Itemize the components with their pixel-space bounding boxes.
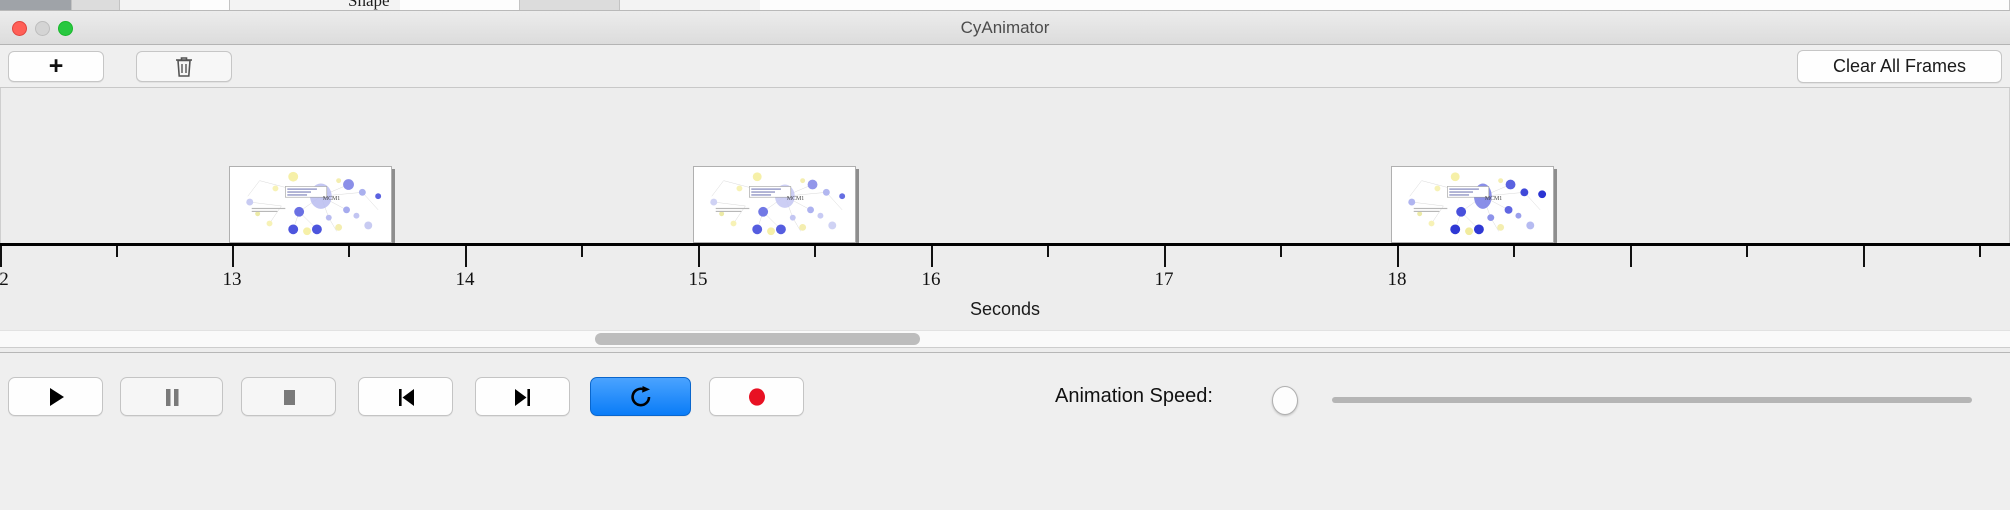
axis-tick-major	[465, 246, 467, 267]
page-title: CyAnimator	[0, 11, 2010, 45]
pause-icon	[162, 386, 182, 408]
cyanimator-window: Shape CyAnimator + Clear All Frames	[0, 0, 2010, 510]
add-frame-button[interactable]: +	[8, 51, 104, 82]
skip-back-icon	[395, 386, 417, 408]
skip-back-button[interactable]	[358, 377, 453, 416]
axis-tick-minor	[1513, 246, 1515, 257]
network-graph-preview: MCM1	[230, 167, 391, 242]
axis-tick-major	[931, 246, 933, 267]
axis-tick-major	[698, 246, 700, 267]
playback-control-bar: Animation Speed:	[0, 352, 2010, 510]
axis-tick-label: 16	[922, 269, 941, 291]
bg-window-chip	[190, 0, 230, 11]
scrollbar-track[interactable]	[0, 330, 2010, 348]
clear-all-frames-label: Clear All Frames	[1833, 56, 1966, 77]
loop-button[interactable]	[590, 377, 691, 416]
play-button[interactable]	[8, 377, 103, 416]
animation-speed-label: Animation Speed:	[1055, 385, 1213, 408]
delete-frame-button[interactable]	[136, 51, 232, 82]
axis-tick-minor	[581, 246, 583, 257]
axis-tick-label: 17	[1155, 269, 1174, 291]
record-icon	[746, 386, 768, 408]
axis-tick-label: 18	[1388, 269, 1407, 291]
stop-icon	[279, 386, 299, 408]
axis-tick-minor	[1047, 246, 1049, 257]
animation-speed-thumb[interactable]	[1272, 386, 1298, 415]
record-button[interactable]	[709, 377, 804, 416]
network-graph-preview: MCM1	[1392, 167, 1553, 242]
skip-forward-button[interactable]	[475, 377, 570, 416]
play-icon	[46, 386, 66, 408]
axis-tick-minor	[116, 246, 118, 257]
animation-speed-slider[interactable]	[1332, 397, 1972, 403]
bg-window-chip	[400, 0, 520, 11]
background-shape-label: Shape	[348, 0, 390, 11]
keyframe-thumbnail[interactable]: MCM1	[1391, 166, 1554, 243]
scrollbar-thumb[interactable]	[595, 333, 920, 345]
skip-forward-icon	[512, 386, 534, 408]
axis-tick-major	[1630, 246, 1632, 267]
axis-tick-minor	[1280, 246, 1282, 257]
loop-icon	[629, 385, 653, 409]
svg-text:MCM1: MCM1	[1485, 196, 1502, 202]
toolbar: + Clear All Frames	[0, 45, 2010, 88]
network-graph-preview: MCM1	[694, 167, 855, 242]
axis-tick-label: 14	[456, 269, 475, 291]
axis-tick-label: 15	[689, 269, 708, 291]
axis-tick-major	[1863, 246, 1865, 267]
axis-title: Seconds	[0, 299, 2010, 320]
keyframe-thumbnail[interactable]: MCM1	[693, 166, 856, 243]
axis-tick-label: 13	[223, 269, 242, 291]
time-axis: 2 13 14 15 16 17 18 Seconds	[0, 243, 2010, 333]
bg-window-chip	[520, 0, 620, 11]
bg-window-chip	[72, 0, 120, 11]
clear-all-frames-button[interactable]: Clear All Frames	[1797, 50, 2002, 83]
keyframe-thumbnail[interactable]: MCM1	[229, 166, 392, 243]
timeline-panel[interactable]: MCM1	[0, 88, 2010, 243]
background-windows: Shape	[0, 0, 2010, 11]
timeline-scroll-area	[0, 322, 2010, 352]
svg-text:MCM1: MCM1	[787, 196, 804, 202]
axis-tick-major	[1397, 246, 1399, 267]
pause-button[interactable]	[120, 377, 223, 416]
axis-tick-minor	[814, 246, 816, 257]
axis-tick-minor	[348, 246, 350, 257]
bg-window-chip	[0, 0, 72, 11]
axis-tick-major	[232, 246, 234, 267]
axis-tick-minor	[1979, 246, 1981, 257]
trash-icon	[174, 55, 194, 79]
axis-tick-minor	[1746, 246, 1748, 257]
svg-text:MCM1: MCM1	[323, 196, 340, 202]
axis-tick-major	[1164, 246, 1166, 267]
bg-window-chip	[760, 0, 2010, 11]
plus-icon: +	[49, 54, 64, 79]
axis-tick-major	[0, 246, 2, 267]
axis-line	[0, 243, 2010, 246]
axis-tick-label: 2	[0, 269, 9, 291]
stop-button[interactable]	[241, 377, 336, 416]
